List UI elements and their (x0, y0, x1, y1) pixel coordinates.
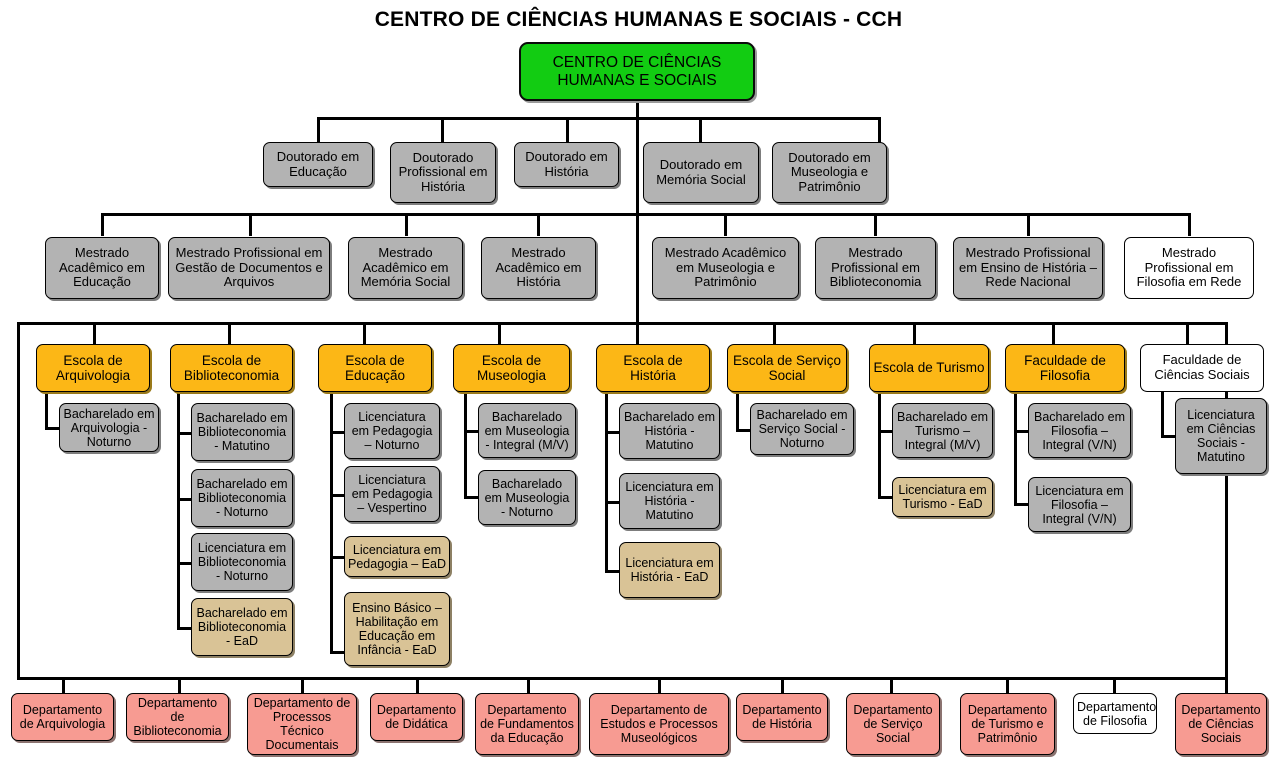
course-node-6-1[interactable]: Bacharelado em Serviço Social - Noturno (750, 403, 854, 455)
department-label-2: Departamento de Biblioteconomia (130, 696, 225, 738)
course-node-4-1[interactable]: Bacharelado em Museologia - Integral (M/… (478, 403, 576, 458)
masters-drop-7 (1027, 213, 1030, 236)
course-rail-school-1 (45, 392, 48, 428)
course-label-2-1: Bacharelado em Biblioteconomia - Matutin… (195, 411, 289, 453)
school-node-7[interactable]: Escola de Turismo (869, 344, 989, 392)
course-stub-3-3 (330, 556, 344, 559)
school-label-4: Escola de Museologia (457, 353, 566, 383)
course-label-5-1: Bacharelado em História - Matutino (623, 410, 716, 452)
course-stub-2-3 (177, 562, 191, 565)
dept-drop-3 (301, 677, 304, 694)
course-label-5-3: Licenciatura em História - EaD (623, 556, 716, 584)
school-drop-4 (498, 322, 501, 344)
school-label-7: Escola de Turismo (873, 360, 985, 375)
department-node-11[interactable]: Departamento de Ciências Sociais (1175, 693, 1267, 755)
school-drop-3 (363, 322, 366, 344)
doctorate-drop-2 (441, 117, 444, 143)
department-node-2[interactable]: Departamento de Biblioteconomia (126, 693, 229, 741)
course-stub-8-2 (1014, 503, 1028, 506)
course-node-9-1[interactable]: Licenciatura em Ciências Sociais - Matut… (1175, 398, 1267, 474)
school-node-6[interactable]: Escola de Serviço Social (727, 344, 847, 392)
doctorate-bus-line (318, 117, 881, 120)
course-rail-school-5 (605, 392, 608, 572)
trunk-line-center (636, 101, 639, 323)
doctorate-node-3[interactable]: Doutorado em História (514, 142, 619, 187)
course-node-8-1[interactable]: Bacharelado em Filosofia – Integral (V/N… (1028, 403, 1131, 458)
dept-drop-4 (416, 677, 419, 694)
course-rail-school-6 (736, 392, 739, 430)
department-label-4: Departamento de Didática (374, 703, 459, 731)
department-label-3: Departamento de Processos Técnico Docume… (251, 696, 353, 752)
course-rail-school-8 (1014, 392, 1017, 505)
course-label-8-1: Bacharelado em Filosofia – Integral (V/N… (1032, 410, 1127, 452)
schools-bus-line (17, 322, 1225, 325)
masters-label-8: Mestrado Profissional em Filosofia em Re… (1128, 246, 1250, 290)
course-stub-4-2 (464, 496, 478, 499)
doctorate-drop-3 (566, 117, 569, 143)
school-node-2[interactable]: Escola de Biblioteconomia (170, 344, 293, 392)
department-node-8[interactable]: Departamento de Serviço Social (846, 693, 940, 755)
dept-drop-6 (658, 677, 661, 694)
course-stub-6-1 (736, 429, 750, 432)
doctorate-label-4: Doutorado em Memória Social (647, 158, 755, 187)
dept-drop-10 (1113, 677, 1116, 694)
root-node-label: CENTRO DE CIÊNCIAS HUMANAS E SOCIAIS (524, 54, 750, 89)
school-label-2: Escola de Biblioteconomia (174, 353, 289, 383)
school-drop-9 (1186, 322, 1189, 344)
course-stub-5-3 (605, 570, 619, 573)
doctorate-drop-5 (878, 117, 881, 143)
school-drop-1 (93, 322, 96, 344)
masters-label-7: Mestrado Profissional em Ensino de Histó… (957, 246, 1099, 290)
left-rail-line (17, 322, 20, 679)
department-label-1: Departamento de Arquivologia (15, 703, 110, 731)
org-chart-canvas: CENTRO DE CIÊNCIAS HUMANAS E SOCIAIS - C… (0, 0, 1277, 761)
department-node-4[interactable]: Departamento de Didática (370, 693, 463, 741)
school-label-8: Faculdade de Filosofia (1009, 353, 1121, 383)
school-drop-6 (773, 322, 776, 344)
masters-node-8[interactable]: Mestrado Profissional em Filosofia em Re… (1124, 237, 1254, 299)
masters-label-2: Mestrado Profissional em Gestão de Docum… (172, 246, 326, 290)
school-node-8[interactable]: Faculdade de Filosofia (1005, 344, 1125, 392)
department-node-5[interactable]: Departamento de Fundamentos da Educação (475, 693, 579, 755)
department-node-7[interactable]: Departamento de História (736, 693, 828, 741)
course-stub-8-1 (1014, 430, 1028, 433)
course-stub-9-1 (1161, 435, 1175, 438)
department-node-9[interactable]: Departamento de Turismo e Patrimônio (960, 693, 1055, 755)
masters-label-5: Mestrado Acadêmico em Museologia e Patri… (656, 246, 795, 290)
course-label-2-2: Bacharelado em Biblioteconomia - Noturno (195, 477, 289, 519)
school-node-9[interactable]: Faculdade de Ciências Sociais (1140, 344, 1264, 392)
course-stub-4-1 (464, 430, 478, 433)
dept-drop-5 (527, 677, 530, 694)
masters-drop-6 (874, 213, 877, 236)
course-node-2-1[interactable]: Bacharelado em Biblioteconomia - Matutin… (191, 403, 293, 461)
department-label-8: Departamento de Serviço Social (850, 703, 936, 745)
masters-drop-5 (724, 213, 727, 236)
masters-label-1: Mestrado Acadêmico em Educação (49, 246, 155, 290)
course-node-8-2[interactable]: Licenciatura em Filosofia – Integral (V/… (1028, 477, 1131, 532)
root-node-cch[interactable]: CENTRO DE CIÊNCIAS HUMANAS E SOCIAIS (519, 42, 755, 101)
course-node-3-2[interactable]: Licenciatura em Pedagogia – Vespertino (344, 466, 440, 522)
course-label-3-4: Ensino Básico – Habilitação em Educação … (348, 601, 446, 657)
course-node-4-2[interactable]: Bacharelado em Museologia - Noturno (478, 470, 576, 525)
course-node-2-2[interactable]: Bacharelado em Biblioteconomia - Noturno (191, 469, 293, 527)
masters-label-3: Mestrado Acadêmico em Memória Social (352, 246, 459, 290)
course-node-5-3[interactable]: Licenciatura em História - EaD (619, 542, 720, 598)
course-stub-7-2 (878, 496, 892, 499)
doctorate-node-4[interactable]: Doutorado em Memória Social (643, 142, 759, 203)
doctorate-node-2[interactable]: Doutorado Profissional em História (390, 142, 496, 203)
doctorate-label-1: Doutorado em Educação (267, 150, 369, 179)
course-rail-school-2 (177, 392, 180, 629)
page-title: CENTRO DE CIÊNCIAS HUMANAS E SOCIAIS - C… (0, 8, 1277, 32)
school-label-6: Escola de Serviço Social (731, 353, 843, 383)
department-node-10[interactable]: Departamento de Filosofia (1073, 693, 1157, 734)
masters-drop-2 (249, 213, 252, 236)
masters-node-6[interactable]: Mestrado Profissional em Biblioteconomia (815, 237, 936, 299)
course-label-3-1: Licenciatura em Pedagogia – Noturno (348, 410, 436, 452)
course-label-3-3: Licenciatura em Pedagogia – EaD (348, 543, 446, 571)
course-stub-7-1 (878, 430, 892, 433)
department-label-7: Departamento de História (740, 703, 824, 731)
course-node-3-1[interactable]: Licenciatura em Pedagogia – Noturno (344, 403, 440, 459)
course-label-4-1: Bacharelado em Museologia - Integral (M/… (482, 410, 572, 452)
school-node-4[interactable]: Escola de Museologia (453, 344, 570, 392)
course-node-2-3[interactable]: Licenciatura em Biblioteconomia - Noturn… (191, 533, 293, 591)
masters-node-3[interactable]: Mestrado Acadêmico em Memória Social (348, 237, 463, 299)
dept-drop-1 (62, 677, 65, 694)
department-label-10: Departamento de Filosofia (1077, 700, 1153, 728)
doctorate-label-2: Doutorado Profissional em História (394, 151, 492, 195)
course-label-4-2: Bacharelado em Museologia - Noturno (482, 477, 572, 519)
course-node-5-1[interactable]: Bacharelado em História - Matutino (619, 403, 720, 459)
doctorate-label-3: Doutorado em História (518, 150, 615, 179)
school-node-5[interactable]: Escola de História (596, 344, 710, 392)
masters-node-5[interactable]: Mestrado Acadêmico em Museologia e Patri… (652, 237, 799, 299)
course-node-1-1[interactable]: Bacharelado em Arquivologia - Noturno (59, 403, 159, 452)
masters-drop-4 (537, 213, 540, 236)
course-rail-school-9 (1161, 392, 1164, 436)
masters-node-4[interactable]: Mestrado Acadêmico em História (481, 237, 596, 299)
school-drop-7 (913, 322, 916, 344)
course-rail-school-7 (878, 392, 881, 498)
course-stub-3-4 (330, 651, 344, 654)
doctorate-label-5: Doutorado em Museologia e Patrimônio (776, 151, 883, 195)
dept-drop-8 (890, 677, 893, 694)
masters-drop-8 (1188, 213, 1191, 236)
department-label-5: Departamento de Fundamentos da Educação (479, 703, 575, 745)
course-stub-1-1 (45, 427, 59, 430)
course-node-7-2[interactable]: Licenciatura em Turismo - EaD (892, 477, 993, 517)
course-label-5-2: Licenciatura em História - Matutino (623, 480, 716, 522)
course-label-2-3: Licenciatura em Biblioteconomia - Noturn… (195, 541, 289, 583)
doctorate-node-5[interactable]: Doutorado em Museologia e Patrimônio (772, 142, 887, 203)
course-stub-3-2 (330, 494, 344, 497)
course-label-6-1: Bacharelado em Serviço Social - Noturno (754, 408, 850, 450)
course-label-8-2: Licenciatura em Filosofia – Integral (V/… (1032, 484, 1127, 526)
masters-drop-3 (405, 213, 408, 236)
masters-node-1[interactable]: Mestrado Acadêmico em Educação (45, 237, 159, 299)
department-node-6[interactable]: Departamento de Estudos e Processos Muse… (589, 693, 729, 755)
doctorate-drop-1 (317, 117, 320, 143)
masters-node-7[interactable]: Mestrado Profissional em Ensino de Histó… (953, 237, 1103, 299)
department-node-1[interactable]: Departamento de Arquivologia (11, 693, 114, 741)
school-label-3: Escola de Educação (322, 353, 428, 383)
course-label-9-1: Licenciatura em Ciências Sociais - Matut… (1179, 408, 1263, 464)
course-stub-2-2 (177, 498, 191, 501)
school-drop-2 (228, 322, 231, 344)
doctorate-node-1[interactable]: Doutorado em Educação (263, 142, 373, 187)
school-label-5: Escola de História (600, 353, 706, 383)
course-rail-school-4 (464, 392, 467, 498)
dept-drop-11 (1225, 677, 1228, 694)
department-label-6: Departamento de Estudos e Processos Muse… (593, 703, 725, 745)
school-drop-5 (636, 322, 639, 344)
course-node-7-1[interactable]: Bacharelado em Turismo – Integral (M/V) (892, 403, 993, 458)
doctorate-drop-4 (699, 117, 702, 143)
course-node-3-3[interactable]: Licenciatura em Pedagogia – EaD (344, 536, 450, 577)
masters-node-2[interactable]: Mestrado Profissional em Gestão de Docum… (168, 237, 330, 299)
masters-drop-1 (101, 213, 104, 236)
course-stub-2-1 (177, 432, 191, 435)
dept-drop-9 (1006, 677, 1009, 694)
school-node-1[interactable]: Escola de Arquivologia (36, 344, 150, 392)
course-label-3-2: Licenciatura em Pedagogia – Vespertino (348, 473, 436, 515)
dept-drop-2 (178, 677, 181, 694)
masters-label-4: Mestrado Acadêmico em História (485, 246, 592, 290)
course-label-1-1: Bacharelado em Arquivologia - Noturno (63, 407, 155, 449)
course-label-7-2: Licenciatura em Turismo - EaD (896, 483, 989, 511)
dept-drop-7 (781, 677, 784, 694)
school-label-9: Faculdade de Ciências Sociais (1144, 353, 1260, 382)
departments-bus-line (17, 677, 1228, 680)
course-stub-5-1 (605, 431, 619, 434)
masters-label-6: Mestrado Profissional em Biblioteconomia (819, 246, 932, 290)
school-drop-8 (1052, 322, 1055, 344)
department-label-9: Departamento de Turismo e Patrimônio (964, 703, 1051, 745)
department-node-3[interactable]: Departamento de Processos Técnico Docume… (247, 693, 357, 755)
course-node-5-2[interactable]: Licenciatura em História - Matutino (619, 473, 720, 529)
course-node-2-4[interactable]: Bacharelado em Biblioteconomia - EaD (191, 598, 293, 656)
department-label-11: Departamento de Ciências Sociais (1179, 703, 1263, 745)
course-stub-3-1 (330, 431, 344, 434)
course-stub-5-2 (605, 501, 619, 504)
course-stub-2-4 (177, 627, 191, 630)
course-node-3-4[interactable]: Ensino Básico – Habilitação em Educação … (344, 592, 450, 666)
course-label-7-1: Bacharelado em Turismo – Integral (M/V) (896, 410, 989, 452)
course-label-2-4: Bacharelado em Biblioteconomia - EaD (195, 606, 289, 648)
school-node-3[interactable]: Escola de Educação (318, 344, 432, 392)
school-label-1: Escola de Arquivologia (40, 353, 146, 383)
